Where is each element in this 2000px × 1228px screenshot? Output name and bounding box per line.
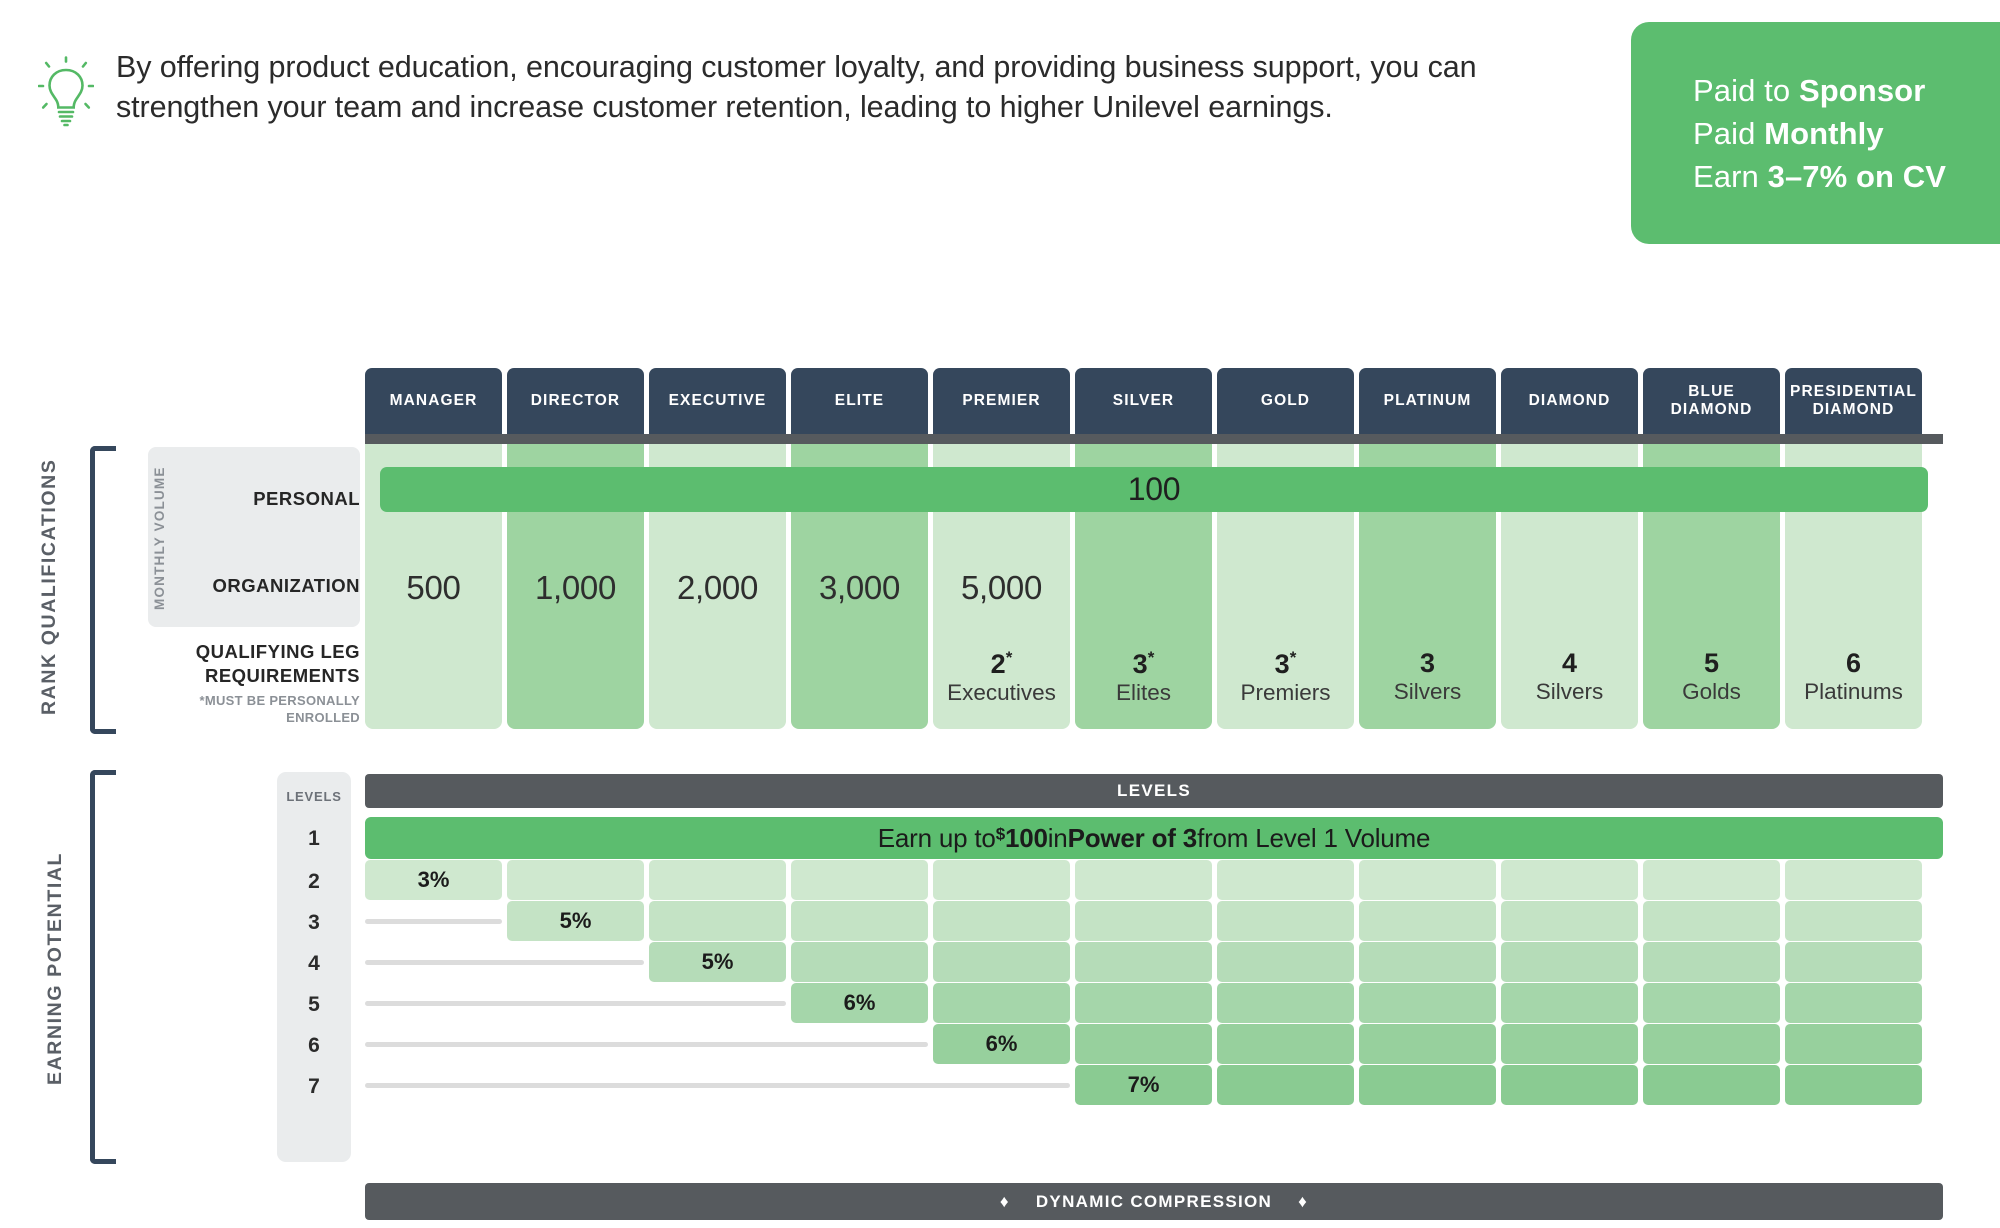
- banner-part-1: Earn up to: [878, 823, 996, 854]
- level-filled-cell: [1217, 1065, 1354, 1105]
- level-1-banner: Earn up to $100 in Power of 3 from Level…: [365, 817, 1943, 859]
- level-filled-cell: [1643, 1065, 1780, 1105]
- banner-dollar-sign: $: [996, 824, 1005, 843]
- level-number-5: 5: [277, 993, 351, 1017]
- qualifying-leg-value: 6Platinums: [1785, 649, 1922, 705]
- callout-text: By offering product education, encouragi…: [116, 48, 1556, 127]
- level-filled-cell: [1785, 1065, 1922, 1105]
- organization-volume-value: 2,000: [649, 569, 786, 607]
- organization-volume-value: 500: [365, 569, 502, 607]
- qualifying-leg-value: 3*Elites: [1075, 649, 1212, 706]
- personally-enrolled-asterisk: *: [1290, 648, 1297, 667]
- level-filled-cell: [1217, 942, 1354, 982]
- level-filled-cell: [1501, 1024, 1638, 1064]
- levels-header-bar: LEVELS: [365, 774, 1943, 808]
- rank-qualifications-section-label: RANK QUALIFICATIONS: [38, 442, 61, 732]
- leg-req-note: *MUST BE PERSONALLY ENROLLED: [130, 693, 360, 726]
- rank-qualifications-bracket: [90, 446, 116, 734]
- level-lead-line: [365, 919, 502, 924]
- qualifying-leg-rank-name: Platinums: [1785, 679, 1922, 705]
- rank-header-director[interactable]: DIRECTOR: [507, 368, 644, 434]
- sponsor-badge: Paid to Sponsor Paid Monthly Earn 3–7% o…: [1631, 22, 2000, 244]
- level-filled-cell: [1075, 983, 1212, 1023]
- row-label-organization: ORGANIZATION: [130, 575, 360, 597]
- badge-line-earn-cv: Earn 3–7% on CV: [1693, 156, 2000, 199]
- level-filled-cell: [1501, 942, 1638, 982]
- level-filled-cell: [1075, 1024, 1212, 1064]
- dynamic-compression-bar: ♦ DYNAMIC COMPRESSION ♦: [365, 1183, 1943, 1220]
- banner-part-3: from Level 1 Volume: [1197, 823, 1430, 854]
- rank-header-premier[interactable]: PREMIER: [933, 368, 1070, 434]
- level-filled-cell: [1643, 860, 1780, 900]
- level-filled-cell: [1785, 860, 1922, 900]
- row-label-personal: PERSONAL: [130, 488, 360, 510]
- level-filled-cell: [1359, 983, 1496, 1023]
- level-filled-cell: [1075, 901, 1212, 941]
- leg-req-title: QUALIFYING LEG REQUIREMENTS: [196, 641, 360, 686]
- personally-enrolled-asterisk: *: [1006, 648, 1013, 667]
- organization-volume-value: 5,000: [933, 569, 1070, 607]
- banner-part-2: in: [1048, 823, 1068, 854]
- level-row-7: 7%: [365, 1065, 1922, 1105]
- rank-header-silver[interactable]: SILVER: [1075, 368, 1212, 434]
- level-number-7: 7: [277, 1075, 351, 1099]
- level-filled-cell: [1359, 860, 1496, 900]
- qualifying-leg-rank-name: Executives: [933, 680, 1070, 706]
- level-row-4: 5%: [365, 942, 1922, 982]
- level-number-3: 3: [277, 911, 351, 935]
- qualifying-leg-rank-name: Golds: [1643, 679, 1780, 705]
- rank-header-platinum[interactable]: PLATINUM: [1359, 368, 1496, 434]
- level-filled-cell: [1501, 901, 1638, 941]
- level-filled-cell: [1643, 901, 1780, 941]
- level-number-1: 1: [277, 827, 351, 851]
- banner-power-of-3: Power of 3: [1068, 823, 1197, 854]
- level-lead-line: [365, 1083, 1070, 1088]
- qualifying-leg-count: 6: [1785, 649, 1922, 677]
- banner-amount: 100: [1005, 823, 1048, 853]
- level-filled-cell: [1217, 901, 1354, 941]
- level-filled-cell: [649, 860, 786, 900]
- level-filled-cell: [1785, 901, 1922, 941]
- qualifying-leg-value: 5Golds: [1643, 649, 1780, 705]
- badge-line-paid-to-sponsor: Paid to Sponsor: [1693, 70, 2000, 113]
- personally-enrolled-asterisk: *: [1148, 648, 1155, 667]
- tip-callout: By offering product education, encouragi…: [38, 48, 1638, 132]
- levels-panel: LEVELS 1234567: [277, 772, 351, 1162]
- rank-header-underbar: [365, 434, 1943, 444]
- level-filled-cell: [933, 983, 1070, 1023]
- level-filled-cell: [791, 901, 928, 941]
- qualifying-leg-count: 3: [1359, 649, 1496, 677]
- monthly-volume-panel: [148, 447, 360, 627]
- level-row-3: 5%: [365, 901, 1922, 941]
- level-filled-cell: [1643, 983, 1780, 1023]
- level-filled-cell: [1501, 983, 1638, 1023]
- level-percent-cell: 6%: [791, 983, 928, 1023]
- qualifying-leg-value: 2*Executives: [933, 649, 1070, 706]
- level-percent-cell: 5%: [649, 942, 786, 982]
- qualifying-leg-rank-name: Silvers: [1501, 679, 1638, 705]
- level-filled-cell: [791, 942, 928, 982]
- levels-caption: LEVELS: [277, 789, 351, 804]
- qualifying-leg-value: 4Silvers: [1501, 649, 1638, 705]
- qualifying-leg-count: 5: [1643, 649, 1780, 677]
- level-filled-cell: [1359, 1024, 1496, 1064]
- level-lead-line: [365, 960, 644, 965]
- qualifying-leg-rank-name: Silvers: [1359, 679, 1496, 705]
- rank-header-diamond[interactable]: DIAMOND: [1501, 368, 1638, 434]
- level-row-6: 6%: [365, 1024, 1922, 1064]
- qualifying-leg-count: 4: [1501, 649, 1638, 677]
- level-percent-cell: 5%: [507, 901, 644, 941]
- rank-header-blue-diamond[interactable]: BLUEDIAMOND: [1643, 368, 1780, 434]
- organization-volume-value: 1,000: [507, 569, 644, 607]
- level-filled-cell: [1075, 942, 1212, 982]
- lightbulb-icon: [38, 56, 94, 132]
- level-lead-line: [365, 1001, 786, 1006]
- level-lead-line: [365, 1042, 928, 1047]
- level-filled-cell: [1359, 942, 1496, 982]
- earning-potential-section-label: EARNING POTENTIAL: [44, 788, 67, 1148]
- up-arrow-icon-left: ♦: [1000, 1192, 1010, 1212]
- qualifying-leg-rank-name: Premiers: [1217, 680, 1354, 706]
- level-percent-cell: 6%: [933, 1024, 1070, 1064]
- up-arrow-icon-right: ♦: [1298, 1192, 1308, 1212]
- level-filled-cell: [1501, 1065, 1638, 1105]
- level-filled-cell: [791, 860, 928, 900]
- level-percent-cell: 3%: [365, 860, 502, 900]
- level-filled-cell: [1785, 983, 1922, 1023]
- level-percent-cell: 7%: [1075, 1065, 1212, 1105]
- level-filled-cell: [1643, 1024, 1780, 1064]
- level-row-5: 6%: [365, 983, 1922, 1023]
- level-filled-cell: [1785, 1024, 1922, 1064]
- qualifying-leg-rank-name: Elites: [1075, 680, 1212, 706]
- level-filled-cell: [933, 860, 1070, 900]
- rank-header-row: MANAGERDIRECTOREXECUTIVEELITEPREMIERSILV…: [365, 368, 1927, 434]
- level-number-6: 6: [277, 1034, 351, 1058]
- level-filled-cell: [1785, 942, 1922, 982]
- qualifying-leg-count: 3*: [1075, 649, 1212, 678]
- level-filled-cell: [933, 942, 1070, 982]
- level-filled-cell: [649, 901, 786, 941]
- qualifying-leg-count: 3*: [1217, 649, 1354, 678]
- level-filled-cell: [1643, 942, 1780, 982]
- qualifying-leg-value: 3*Premiers: [1217, 649, 1354, 706]
- level-filled-cell: [1217, 860, 1354, 900]
- rank-header-gold[interactable]: GOLD: [1217, 368, 1354, 434]
- level-filled-cell: [1217, 983, 1354, 1023]
- level-filled-cell: [1075, 860, 1212, 900]
- personal-volume-bar: 100: [380, 467, 1928, 512]
- level-number-2: 2: [277, 870, 351, 894]
- dynamic-compression-label: DYNAMIC COMPRESSION: [1036, 1192, 1272, 1212]
- rank-header-executive[interactable]: EXECUTIVE: [649, 368, 786, 434]
- qualifying-leg-value: 3Silvers: [1359, 649, 1496, 705]
- level-filled-cell: [507, 860, 644, 900]
- rank-header-presidential-diamond[interactable]: PRESIDENTIALDIAMOND: [1785, 368, 1922, 434]
- level-filled-cell: [1359, 1065, 1496, 1105]
- row-label-leg-requirements: QUALIFYING LEG REQUIREMENTS *MUST BE PER…: [130, 640, 360, 726]
- rank-header-elite[interactable]: ELITE: [791, 368, 928, 434]
- level-filled-cell: [1217, 1024, 1354, 1064]
- level-filled-cell: [933, 901, 1070, 941]
- level-filled-cell: [1359, 901, 1496, 941]
- organization-volume-value: 3,000: [791, 569, 928, 607]
- earning-potential-bracket: [90, 770, 116, 1164]
- rank-header-manager[interactable]: MANAGER: [365, 368, 502, 434]
- badge-line-paid-monthly: Paid Monthly: [1693, 113, 2000, 156]
- level-number-4: 4: [277, 952, 351, 976]
- qualifying-leg-count: 2*: [933, 649, 1070, 678]
- level-filled-cell: [1501, 860, 1638, 900]
- level-row-2: 3%: [365, 860, 1922, 900]
